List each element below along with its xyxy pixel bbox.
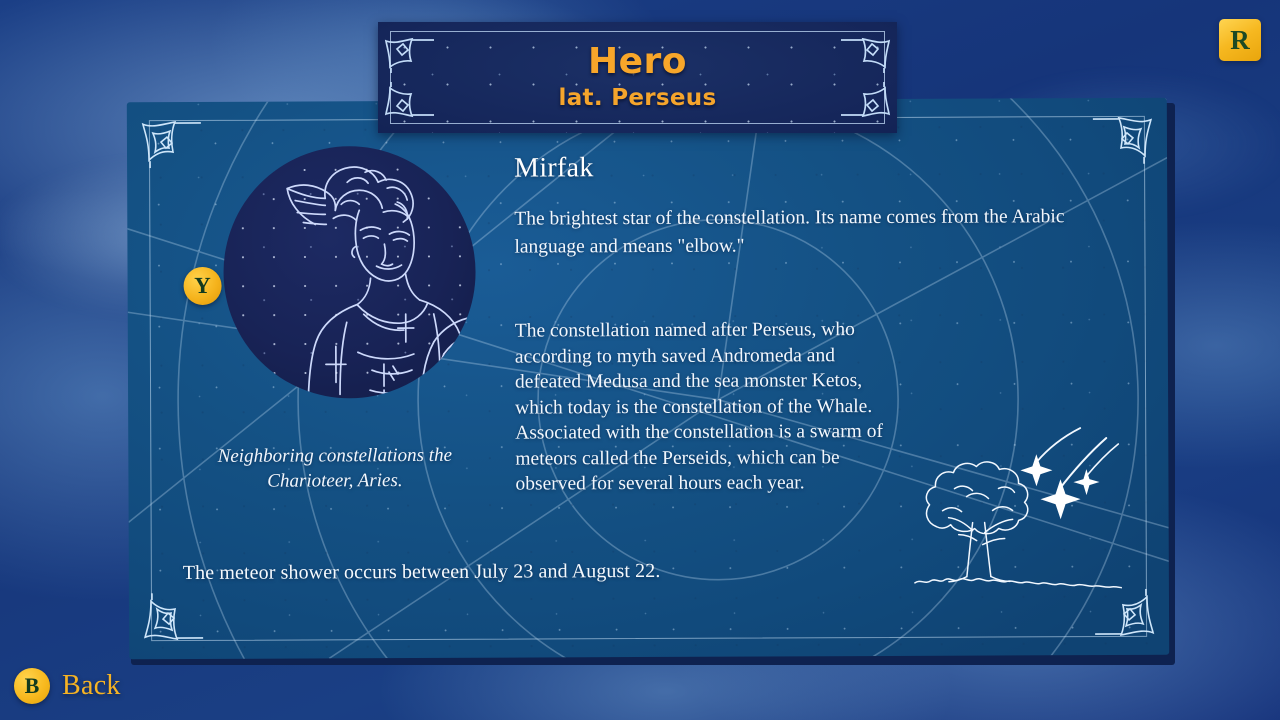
back-label[interactable]: Back xyxy=(62,670,121,702)
perseus-line-art xyxy=(237,146,476,399)
portrait-area: Y xyxy=(199,146,475,417)
meteor-shower-note: The meteor shower occurs between July 23… xyxy=(183,560,661,585)
button-y[interactable]: Y xyxy=(184,267,222,305)
banner-subtitle: lat. Perseus xyxy=(559,85,717,111)
star-name-heading: Mirfak xyxy=(514,152,594,184)
banner-title: Hero xyxy=(588,44,687,80)
star-description: The brightest star of the constellation.… xyxy=(514,203,1099,261)
banner-text-group: Hero lat. Perseus xyxy=(378,22,897,133)
back-control[interactable]: B Back xyxy=(14,666,121,706)
badge-r-button[interactable]: R xyxy=(1219,19,1261,61)
constellation-info-card: Y xyxy=(127,98,1169,660)
portrait-disc xyxy=(223,146,476,399)
title-banner: Hero lat. Perseus xyxy=(378,22,897,133)
tree-with-shooting-stars-art xyxy=(906,418,1122,594)
myth-description: The constellation named after Perseus, w… xyxy=(515,317,906,497)
neighboring-constellations-caption: Neighboring constellations the Chariotee… xyxy=(182,443,487,494)
button-b[interactable]: B xyxy=(14,668,50,704)
